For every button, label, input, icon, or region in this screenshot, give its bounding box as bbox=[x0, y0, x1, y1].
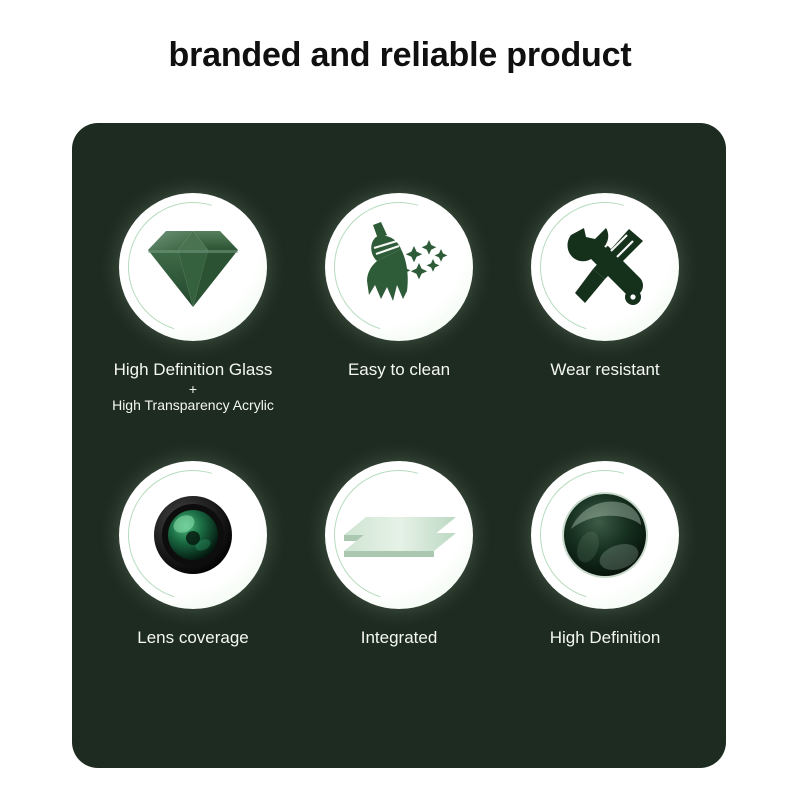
feature-label-main: High Definition Glass bbox=[112, 359, 274, 381]
glass-layers-icon bbox=[325, 461, 473, 609]
feature-grid: High Definition Glass + High Transparenc… bbox=[72, 123, 726, 768]
feature-item-wear-resistant[interactable]: Wear resistant bbox=[502, 151, 708, 451]
glossy-dome-icon bbox=[531, 461, 679, 609]
feature-label: Wear resistant bbox=[550, 359, 659, 381]
feature-item-integrated[interactable]: Integrated bbox=[296, 451, 502, 751]
feature-label-plus: + bbox=[112, 381, 274, 397]
wrench-screwdriver-icon bbox=[531, 193, 679, 341]
diamond-icon bbox=[119, 193, 267, 341]
camera-lens-icon bbox=[119, 461, 267, 609]
feature-label-main: Integrated bbox=[361, 627, 438, 649]
feature-label: Easy to clean bbox=[348, 359, 450, 381]
feature-item-lens-coverage[interactable]: Lens coverage bbox=[90, 451, 296, 751]
feature-label-main: Wear resistant bbox=[550, 359, 659, 381]
feature-label: High Definition Glass + High Transparenc… bbox=[112, 359, 274, 414]
feature-label: High Definition bbox=[550, 627, 661, 649]
feature-label: Lens coverage bbox=[137, 627, 249, 649]
feature-label: Integrated bbox=[361, 627, 438, 649]
feature-label-main: Lens coverage bbox=[137, 627, 249, 649]
feature-item-high-definition[interactable]: High Definition bbox=[502, 451, 708, 751]
page-title: branded and reliable product bbox=[0, 36, 800, 75]
feature-item-easy-to-clean[interactable]: Easy to clean bbox=[296, 151, 502, 451]
feature-label-sub: High Transparency Acrylic bbox=[112, 397, 274, 414]
feature-item-high-definition-glass[interactable]: High Definition Glass + High Transparenc… bbox=[90, 151, 296, 451]
broom-sparkle-icon bbox=[325, 193, 473, 341]
feature-label-main: Easy to clean bbox=[348, 359, 450, 381]
feature-label-main: High Definition bbox=[550, 627, 661, 649]
feature-card: High Definition Glass + High Transparenc… bbox=[72, 123, 726, 768]
